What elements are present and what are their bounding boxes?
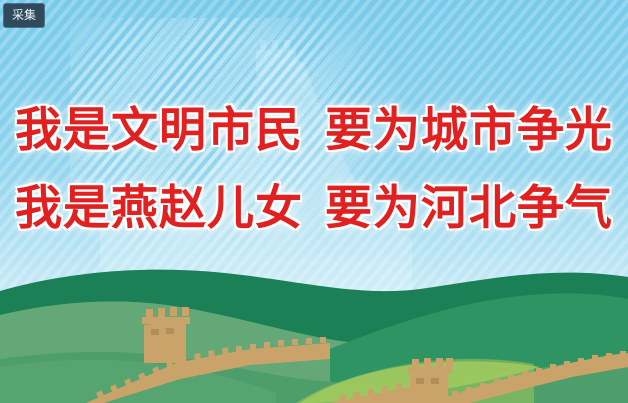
- slogan-block: 我是文明市民要为城市争光 我是燕赵儿女要为河北争气: [0, 92, 628, 248]
- slogan-line-2-left: 我是燕赵儿女: [15, 181, 303, 236]
- capture-button[interactable]: 采集: [4, 4, 44, 27]
- banner-image: 我是文明市民要为城市争光 我是燕赵儿女要为河北争气 采集: [0, 0, 628, 403]
- wall-tower-right: [408, 358, 453, 403]
- slogan-line-2-right: 要为河北争气: [325, 181, 613, 236]
- slogan-line-1-right: 要为城市争光: [325, 103, 613, 158]
- landscape-illustration: [0, 263, 628, 403]
- slogan-line-2: 我是燕赵儿女要为河北争气: [0, 170, 628, 248]
- slogan-line-1: 我是文明市民要为城市争光: [0, 92, 628, 170]
- slogan-line-1-left: 我是文明市民: [15, 103, 303, 158]
